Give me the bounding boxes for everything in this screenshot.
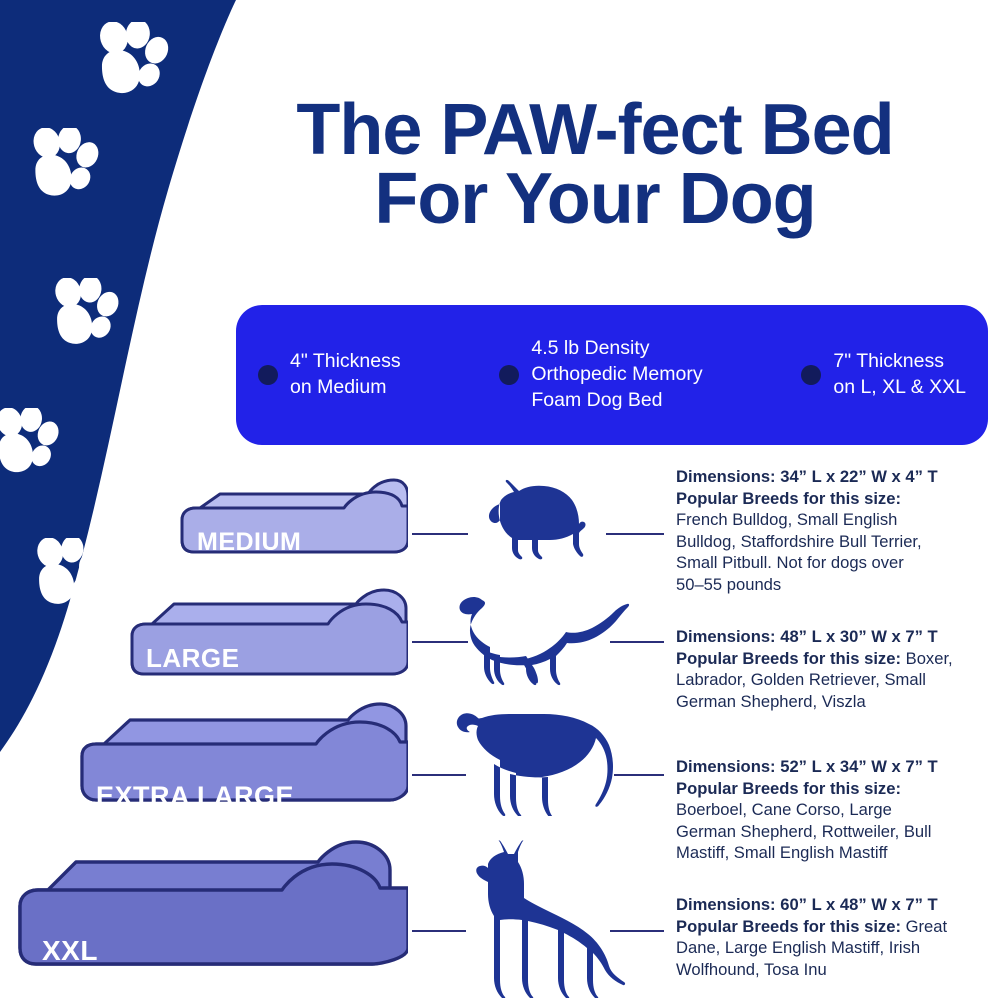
paw-print-icon <box>44 278 124 354</box>
connector-line-medium-left <box>412 533 468 535</box>
bed-size-label-extra-large: EXTRA LARGE <box>96 781 294 812</box>
breeds-label-line: Popular Breeds for this size: Great <box>676 916 996 938</box>
breeds-line: Small Pitbull. Not for dogs over <box>676 552 996 574</box>
dimensions-label: Dimensions: <box>676 467 776 486</box>
feature-item-density: 4.5 lb Density Orthopedic Memory Foam Do… <box>499 336 702 413</box>
breeds-line: 50–55 pounds <box>676 574 996 596</box>
connector-line-large-right <box>610 641 664 643</box>
title-line-1: The PAW-fect Bed <box>200 96 990 165</box>
breeds-inline: Boxer, <box>906 649 953 668</box>
feature-line: 4.5 lb Density <box>531 336 702 362</box>
breeds-label-line: Popular Breeds for this size: <box>676 488 996 510</box>
great-dane-silhouette-icon <box>448 840 638 998</box>
dimensions-value: 60” L x 48” W x 7” T <box>780 895 937 914</box>
breeds-line: French Bulldog, Small English <box>676 509 996 531</box>
breeds-line: Mastiff, Small English Mastiff <box>676 842 996 864</box>
dimensions-line: Dimensions: 48” L x 30” W x 7” T <box>676 626 996 648</box>
golden-retriever-silhouette-icon <box>448 588 630 686</box>
feature-line: Foam Dog Bed <box>531 388 702 414</box>
dimensions-label: Dimensions: <box>676 757 776 776</box>
breeds-line: Boerboel, Cane Corso, Large <box>676 799 996 821</box>
breeds-line: German Shepherd, Viszla <box>676 691 996 713</box>
dimensions-value: 52” L x 34” W x 7” T <box>780 757 937 776</box>
breeds-label: Popular Breeds for this size: <box>676 917 901 936</box>
breeds-label: Popular Breeds for this size: <box>676 649 901 668</box>
dimensions-line: Dimensions: 60” L x 48” W x 7” T <box>676 894 996 916</box>
breeds-label-line: Popular Breeds for this size: <box>676 778 996 800</box>
feature-item-label: 4" Thickness on Medium <box>290 349 401 400</box>
size-info-xxl: Dimensions: 60” L x 48” W x 7” T Popular… <box>676 894 996 980</box>
feature-line: Orthopedic Memory <box>531 362 702 388</box>
mastiff-silhouette-icon <box>448 700 636 816</box>
infographic-root: The PAW-fect Bed For Your Dog 4" Thickne… <box>0 0 1000 1000</box>
size-info-extra-large: Dimensions: 52” L x 34” W x 7” T Popular… <box>676 756 996 864</box>
breeds-line: Wolfhound, Tosa Inu <box>676 959 996 981</box>
title-line-2: For Your Dog <box>200 165 990 234</box>
breeds-line: Dane, Large English Mastiff, Irish <box>676 937 996 959</box>
size-info-medium: Dimensions: 34” L x 22” W x 4” T Popular… <box>676 466 996 595</box>
dimensions-value: 48” L x 30” W x 7” T <box>780 627 937 646</box>
bed-size-label-medium: MEDIUM <box>197 528 301 557</box>
bed-size-label-xxl: XXL <box>42 935 98 967</box>
feature-item-label: 4.5 lb Density Orthopedic Memory Foam Do… <box>531 336 702 413</box>
page-title: The PAW-fect Bed For Your Dog <box>200 96 990 234</box>
paw-print-icon <box>0 408 64 482</box>
breeds-line: Labrador, Golden Retriever, Small <box>676 669 996 691</box>
connector-line-xxl-right <box>610 930 664 932</box>
dimensions-label: Dimensions: <box>676 627 776 646</box>
bullet-dot-icon <box>801 365 821 385</box>
feature-line: on L, XL & XXL <box>833 375 966 401</box>
feature-line: on Medium <box>290 375 401 401</box>
dimensions-line: Dimensions: 52” L x 34” W x 7” T <box>676 756 996 778</box>
breeds-label: Popular Breeds for this size: <box>676 779 901 798</box>
breeds-label: Popular Breeds for this size: <box>676 489 901 508</box>
paw-print-icon <box>22 128 104 206</box>
dimensions-value: 34” L x 22” W x 4” T <box>780 467 937 486</box>
connector-line-xl-right <box>614 774 664 776</box>
breeds-line: Bulldog, Staffordshire Bull Terrier, <box>676 531 996 553</box>
size-info-large: Dimensions: 48” L x 30” W x 7” T Popular… <box>676 626 996 712</box>
breeds-label-line: Popular Breeds for this size: Boxer, <box>676 648 996 670</box>
feature-bar: 4" Thickness on Medium 4.5 lb Density Or… <box>236 305 988 445</box>
feature-item-thickness-medium: 4" Thickness on Medium <box>258 349 401 400</box>
french-bulldog-silhouette-icon <box>478 478 604 560</box>
dimensions-label: Dimensions: <box>676 895 776 914</box>
feature-line: 7" Thickness <box>833 349 966 375</box>
paw-print-icon <box>88 22 174 104</box>
feature-item-label: 7" Thickness on L, XL & XXL <box>833 349 966 400</box>
paw-print-icon <box>26 538 106 614</box>
feature-line: 4" Thickness <box>290 349 401 375</box>
bed-size-label-large: LARGE <box>146 643 240 674</box>
bullet-dot-icon <box>499 365 519 385</box>
breeds-inline: Great <box>906 917 948 936</box>
dimensions-line: Dimensions: 34” L x 22” W x 4” T <box>676 466 996 488</box>
connector-line-medium-right <box>606 533 664 535</box>
feature-item-thickness-large: 7" Thickness on L, XL & XXL <box>801 349 966 400</box>
bullet-dot-icon <box>258 365 278 385</box>
breeds-line: German Shepherd, Rottweiler, Bull <box>676 821 996 843</box>
